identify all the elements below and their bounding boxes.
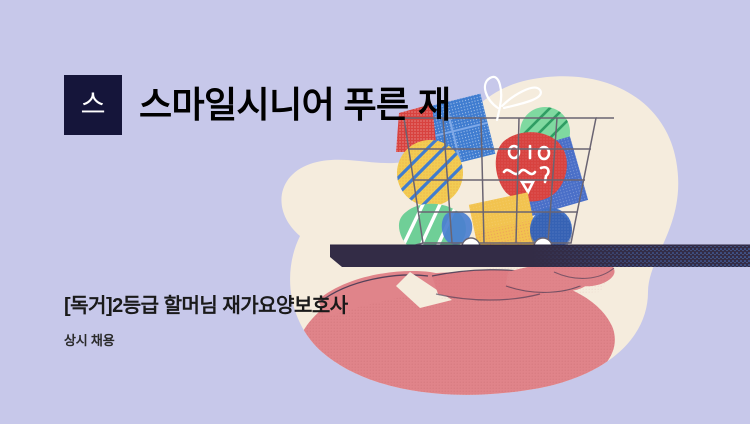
banner-background bbox=[0, 0, 750, 424]
shopping-cart-on-hand-illustration bbox=[0, 0, 750, 424]
logo-glyph: 스 bbox=[64, 92, 122, 119]
dark-tray-bar bbox=[330, 245, 750, 267]
shopping-cart bbox=[398, 118, 614, 262]
company-header: 스 스마일시니어 푸른 재 bbox=[64, 74, 534, 136]
job-posting-banner: 스 스마일시니어 푸른 재 [독거]2등급 할머님 재가요양보호사 상시 채용 bbox=[0, 0, 750, 424]
cart-wheels bbox=[462, 238, 552, 258]
green-white-striped-blob bbox=[399, 198, 472, 258]
company-name: 스마일시니어 푸른 재 bbox=[139, 86, 450, 124]
yellow-striped-circle bbox=[396, 136, 466, 212]
job-status-badge: 상시 채용 bbox=[64, 333, 484, 350]
job-title: [독거]2등급 할머님 재가요양보호사 bbox=[64, 293, 484, 319]
company-logo-mark: 스 bbox=[64, 75, 122, 135]
blue-circle bbox=[530, 208, 572, 253]
job-text-block: [독거]2등급 할머님 재가요양보호사 상시 채용 bbox=[64, 293, 484, 350]
orange-yellow-square bbox=[469, 192, 540, 261]
blue-rectangle bbox=[510, 136, 588, 217]
red-squiggle-blob bbox=[496, 132, 567, 201]
